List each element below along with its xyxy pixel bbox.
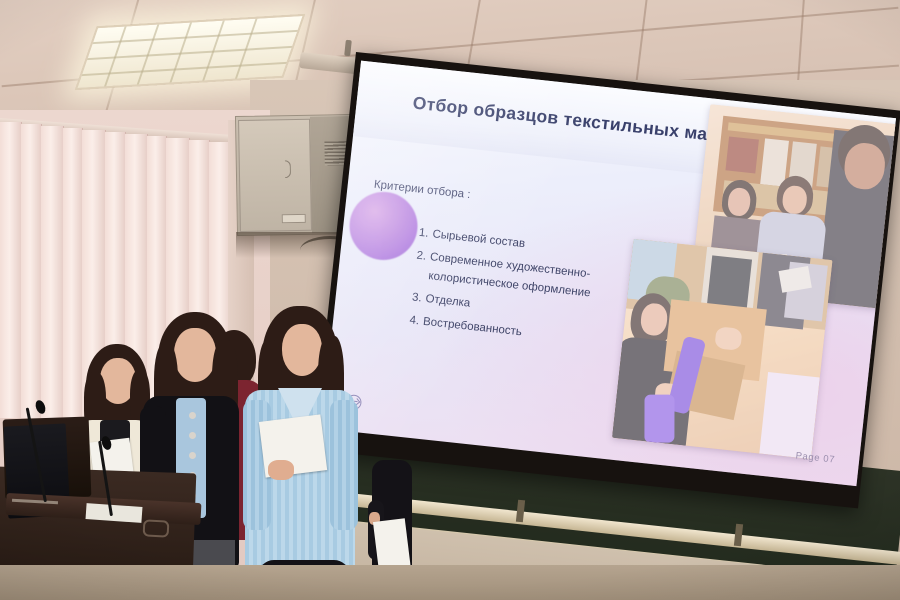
- bullet-text: Востребованность: [422, 316, 522, 339]
- classroom-presentation-scene: Отбор образцов текстильных материалов Кр…: [0, 0, 900, 600]
- criteria-list: 1.Сырьевой состав 2.Современное художест…: [368, 220, 658, 360]
- screen-frame: Отбор образцов текстильных материалов Кр…: [313, 52, 900, 508]
- slide-canvas: Отбор образцов текстильных материалов Кр…: [321, 61, 896, 487]
- bullet-number: 3.: [411, 291, 422, 304]
- bullet-number: 2.: [416, 250, 427, 263]
- slide-photo-fabric-handling: [612, 239, 832, 459]
- projection-screen[interactable]: Отбор образцов текстильных материалов Кр…: [313, 52, 900, 508]
- face: [174, 328, 216, 382]
- floor: [0, 565, 900, 600]
- page-number: Page 07: [795, 450, 836, 465]
- bullet-number: 4.: [409, 314, 420, 327]
- bullet-text: Сырьевой состав: [432, 228, 526, 250]
- cabinet-label: [282, 214, 306, 223]
- bullet-text: Отделка: [425, 293, 471, 310]
- face: [282, 324, 322, 376]
- bullet-number: 1.: [418, 227, 429, 240]
- lectern-handle-icon: [143, 519, 170, 537]
